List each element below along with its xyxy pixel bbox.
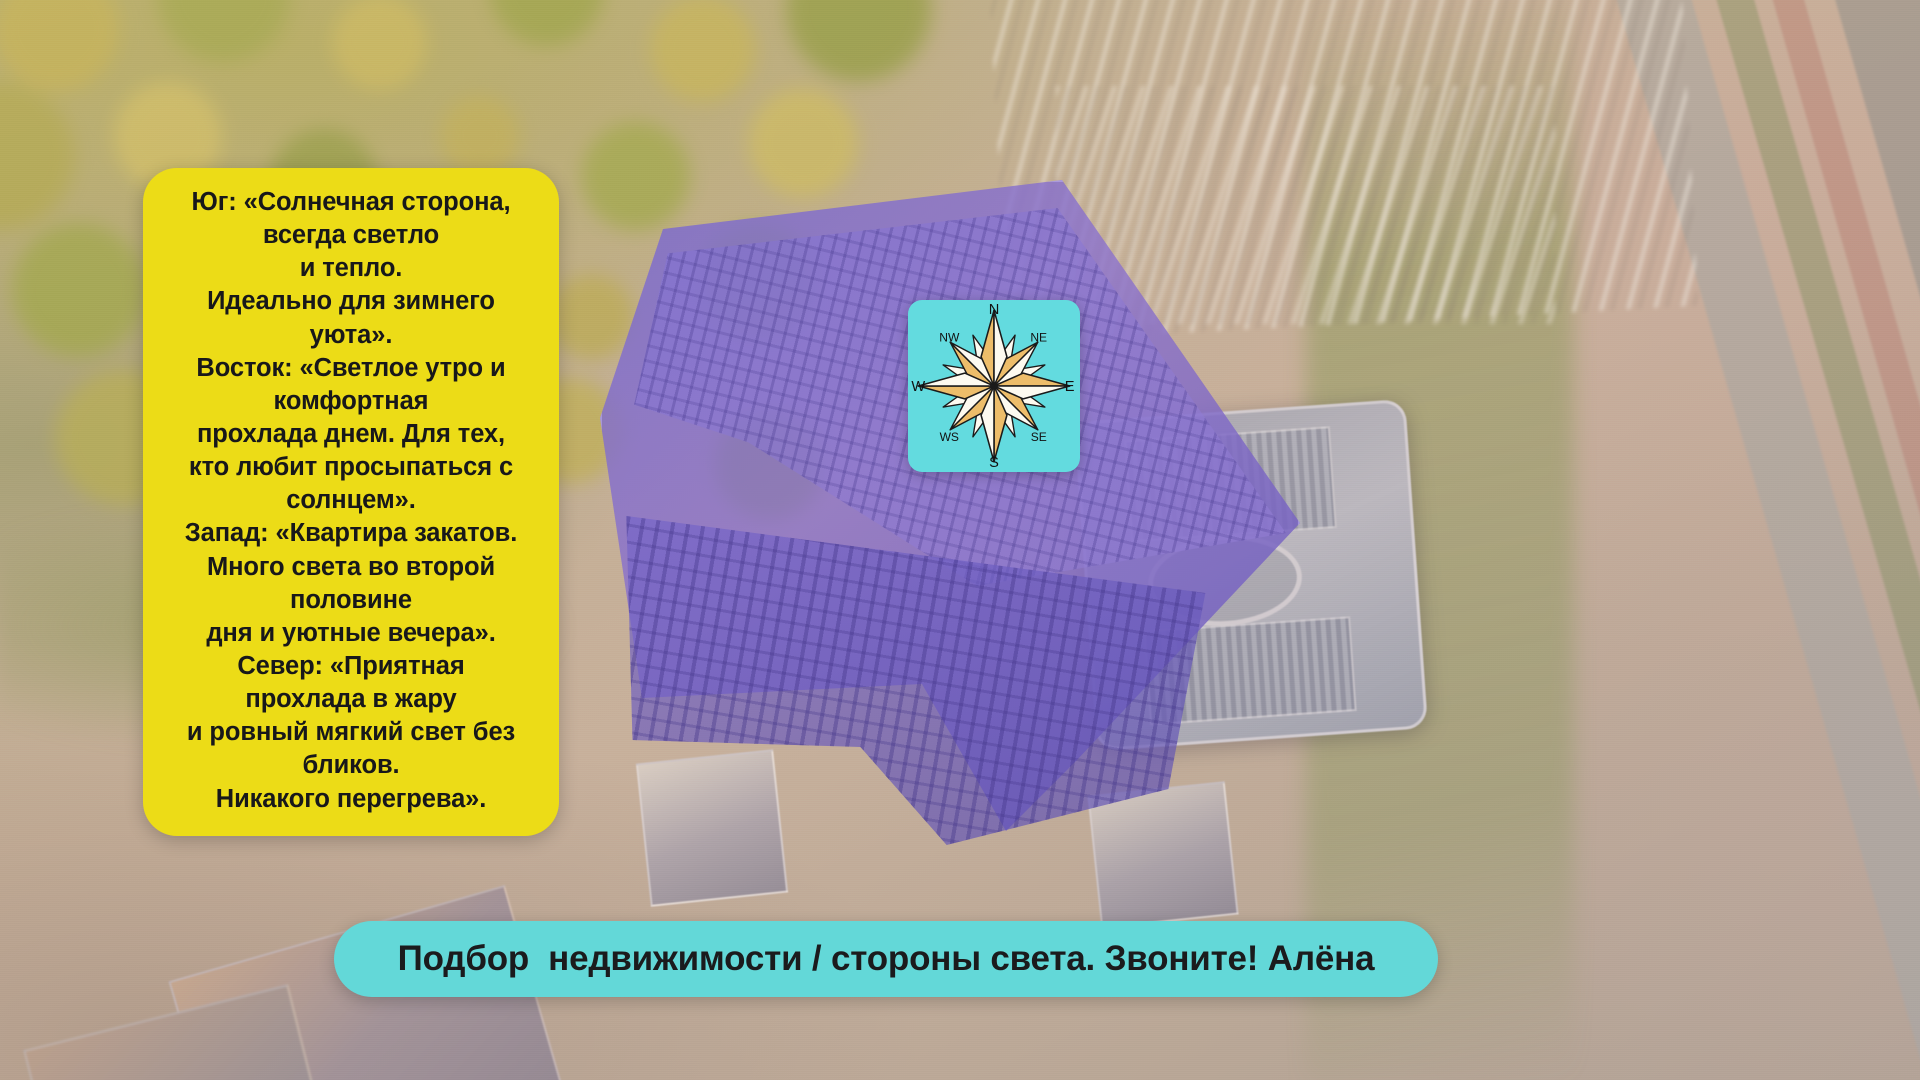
- compass-label-nw: NW: [939, 330, 960, 344]
- compass-label-s: S: [989, 455, 999, 471]
- info-line: Никакого перегрева».: [157, 783, 545, 816]
- info-line: Запад: «Квартира закатов.: [157, 517, 545, 550]
- poster-canvas: Юг: «Солнечная сторона, всегда светло и …: [0, 0, 1920, 1080]
- banner-text: Подбор недвижимости / стороны света. Зво…: [398, 939, 1375, 979]
- highlighted-building: [600, 180, 1300, 880]
- info-line: Много света во второй: [157, 551, 545, 584]
- info-line: уюта».: [157, 319, 545, 352]
- info-line: Север: «Приятная: [157, 650, 545, 683]
- info-line: прохлада в жару: [157, 683, 545, 716]
- info-line: и тепло.: [157, 252, 545, 285]
- compass-rose-icon: N NE E SE S WS W NW: [908, 300, 1080, 472]
- info-line: всегда светло: [157, 219, 545, 252]
- info-line: прохлада днем. Для тех,: [157, 418, 545, 451]
- compass-rose-widget: N NE E SE S WS W NW: [908, 300, 1080, 472]
- info-line: кто любит просыпаться с: [157, 451, 545, 484]
- info-line: и ровный мягкий свет без: [157, 716, 545, 749]
- compass-label-ne: NE: [1030, 330, 1047, 344]
- info-line: Восток: «Светлое утро и: [157, 352, 545, 385]
- info-line: дня и уютные вечера».: [157, 617, 545, 650]
- orientation-info-card: Юг: «Солнечная сторона, всегда светло и …: [143, 168, 559, 836]
- info-line: половине: [157, 584, 545, 617]
- compass-label-e: E: [1065, 379, 1075, 395]
- info-line: солнцем».: [157, 484, 545, 517]
- compass-label-w: W: [911, 379, 925, 395]
- compass-label-n: N: [989, 302, 1000, 318]
- call-to-action-banner[interactable]: Подбор недвижимости / стороны света. Зво…: [334, 921, 1438, 997]
- info-line: комфортная: [157, 385, 545, 418]
- info-line: Юг: «Солнечная сторона,: [157, 186, 545, 219]
- compass-label-ws: WS: [940, 430, 959, 444]
- info-line: бликов.: [157, 749, 545, 782]
- info-line: Идеально для зимнего: [157, 285, 545, 318]
- compass-label-se: SE: [1031, 430, 1047, 444]
